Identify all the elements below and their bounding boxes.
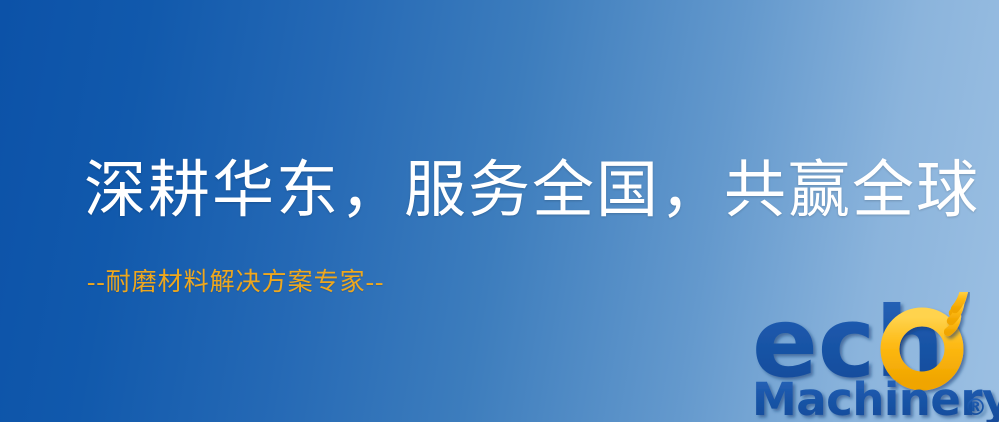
logo-tagline-text: Machinery (752, 373, 999, 422)
logo-tagline-group: Machinery ® (752, 373, 999, 422)
company-logo: ech Machinery ® (752, 292, 999, 422)
banner-subtitle: --耐磨材料解决方案专家-- (87, 267, 384, 299)
registered-trademark-symbol: ® (964, 395, 987, 421)
banner-headline: 深耕华东，服务全国，共赢全球 (84, 155, 980, 227)
wifi-signal-arcs-icon (948, 292, 964, 332)
promo-banner: 深耕华东，服务全国，共赢全球 --耐磨材料解决方案专家-- (0, 0, 999, 422)
